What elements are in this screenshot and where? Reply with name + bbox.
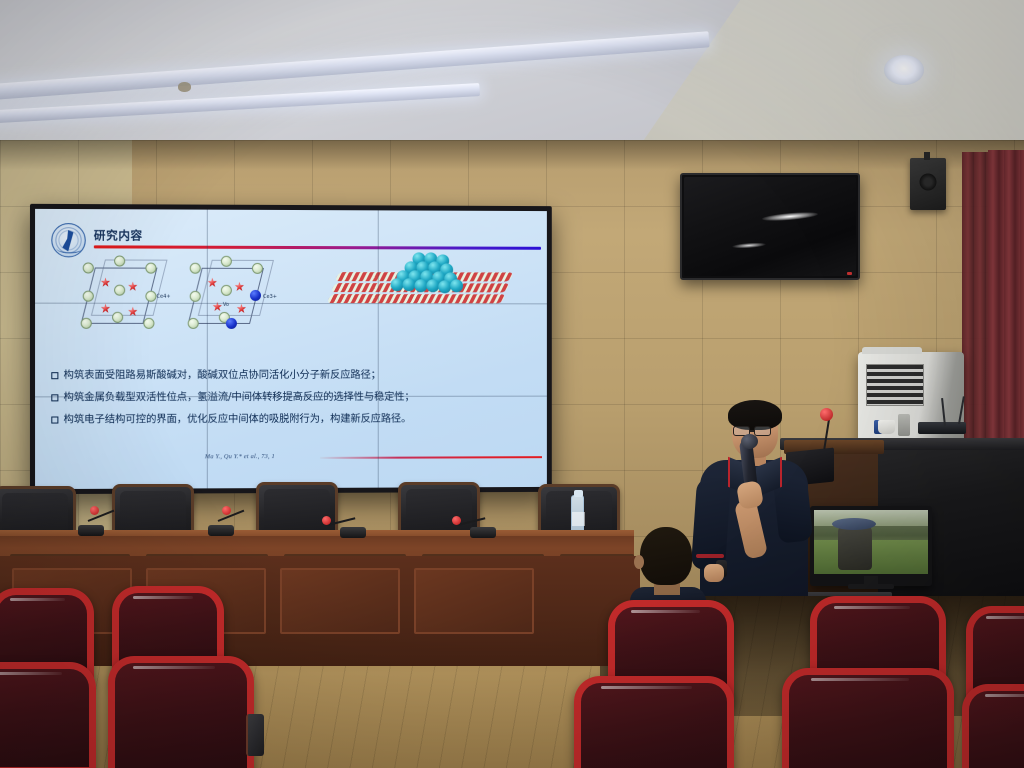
conference-hall-photo: 研究内容: [0, 0, 1024, 768]
glasses-bridge: [750, 430, 755, 432]
glasses-icon: [754, 426, 771, 436]
tv-power-led: [847, 272, 852, 275]
emblem-arc: [56, 243, 82, 253]
wall-mounted-television[interactable]: [680, 173, 860, 280]
wainscot-panel: [280, 568, 400, 634]
auditorium-seat[interactable]: [782, 668, 954, 768]
table-microphone-base: [470, 527, 496, 538]
dopant-atom: [226, 318, 237, 329]
bullet-square-icon: [51, 372, 58, 379]
list-item: 构筑电子结构可控的界面，优化反应中间体的吸脱附行为，构建新反应路径。: [51, 413, 537, 425]
seat-back: [962, 684, 1024, 768]
presenter: [694, 404, 814, 619]
tv-screen: [684, 177, 856, 276]
bullet-square-icon: [51, 416, 58, 423]
video-wall-seam: [207, 210, 208, 489]
monitor-base: [848, 584, 894, 589]
auditorium-seat[interactable]: [108, 656, 254, 768]
presenter-hand: [704, 564, 724, 582]
bottle-label: [572, 512, 585, 526]
table-microphone-head: [222, 506, 231, 515]
led-video-wall[interactable]: 研究内容: [30, 204, 552, 494]
bullet-text: 构筑电子结构可控的界面，优化反应中间体的吸脱附行为，构建新反应路径。: [63, 413, 411, 425]
wainscot-panel: [414, 568, 534, 634]
wall-shadow: [0, 140, 1024, 170]
bullet-text: 构筑表面受阻路易斯酸碱对，酸碱双位点协同活化小分子新反应路径；: [63, 370, 380, 381]
dopant-atom: [250, 290, 261, 301]
smoke-detector-icon: [178, 82, 191, 92]
bottle-cap: [574, 490, 583, 497]
slide-bullet-list: 构筑表面受阻路易斯酸碱对，酸碱双位点协同活化小分子新反应路径； 构筑金属负载型双…: [51, 370, 537, 436]
auditorium-seat[interactable]: [0, 662, 96, 768]
ac-control-panel[interactable]: [898, 414, 910, 436]
seat-back: [108, 656, 254, 768]
table-microphone-base: [78, 525, 104, 536]
attendee-head: [640, 527, 692, 585]
monitor-image-hat: [832, 518, 876, 530]
figure-label: Ce3+: [263, 294, 277, 300]
recessed-downlight: [884, 55, 924, 85]
presentation-slide: 研究内容: [35, 209, 547, 489]
list-item: 构筑表面受阻路易斯酸碱对，酸碱双位点协同活化小分子新反应路径；: [51, 370, 537, 381]
nanoparticle-cluster: [391, 252, 462, 288]
monitor-screen: [814, 510, 928, 574]
metal-nanoparticle-on-support-figure: [337, 250, 512, 310]
ac-vent-grille: [866, 364, 924, 406]
table-microphone-head: [452, 516, 461, 525]
slide-title: 研究内容: [94, 227, 143, 243]
figure-label: Ce4+: [156, 294, 170, 300]
podium-microphone-head: [820, 408, 833, 421]
seat-back: [0, 662, 96, 768]
seat-armrest: [246, 714, 264, 756]
table-microphone-base: [340, 527, 366, 538]
slide-citation: Ma Y., Qu Y.* et al., 73, 1: [205, 453, 275, 460]
title-divider: [94, 245, 541, 249]
bullet-text: 构筑金属负载型双活性位点，氢溢流/中间体转移提高反应的选择性与稳定性；: [63, 392, 414, 403]
table-microphone-base: [208, 525, 234, 536]
table-microphone-head: [90, 506, 99, 515]
speaker-bracket: [924, 152, 930, 160]
video-wall-seam: [378, 210, 379, 487]
desktop-monitor[interactable]: [810, 506, 932, 586]
seat-back: [574, 676, 734, 768]
auditorium-seat[interactable]: [574, 676, 734, 768]
bullet-square-icon: [51, 394, 58, 401]
auditorium-seat[interactable]: [962, 684, 1024, 768]
support-layer: [327, 294, 506, 303]
speaker-cone-icon: [920, 173, 937, 190]
wainscot-wall: [0, 556, 640, 666]
ceiling-speaker: [910, 158, 946, 210]
monitor-image-person: [838, 524, 872, 570]
university-emblem-icon: [51, 223, 85, 257]
screen-glare: [762, 211, 818, 223]
ac-top-cover: [862, 347, 922, 354]
table-microphone-head: [322, 516, 331, 525]
bottom-divider: [320, 456, 542, 459]
cup: [878, 420, 895, 434]
screen-glare: [732, 242, 766, 249]
attendee-ear: [634, 555, 644, 569]
seat-back: [782, 668, 954, 768]
